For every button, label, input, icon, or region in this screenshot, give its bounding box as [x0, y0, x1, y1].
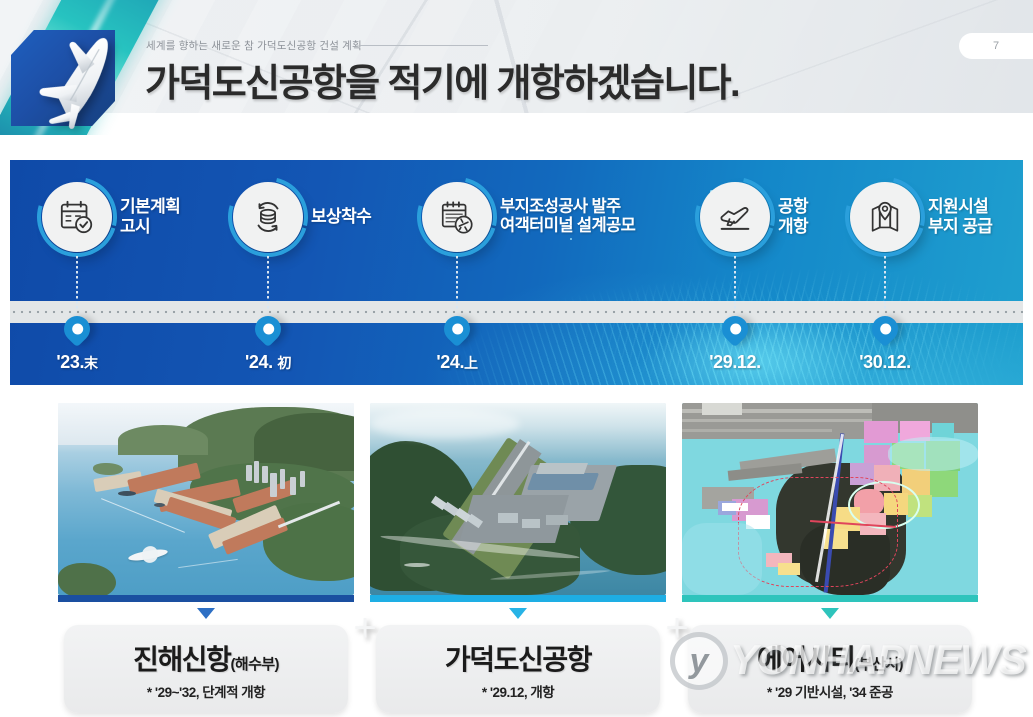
- card-caption: 에어시티(부산시) * '29 기반시설, '34 준공: [688, 625, 972, 713]
- timeline-node-date: '24.上: [414, 352, 500, 373]
- label-line-1: 지원시설: [928, 197, 992, 217]
- card-note: * '29 기반시설, '34 준공: [767, 681, 893, 701]
- timeline-node-label: 부지조성공사 발주 여객터미널 설계공모: [500, 198, 635, 237]
- timeline-node-date: '30.12.: [842, 352, 928, 373]
- timeline-node-4[interactable]: 공항 개항 '29.12.: [700, 182, 770, 252]
- card-caption: 진해신항(해수부) * '29~'32, 단계적 개항: [64, 625, 348, 713]
- date-main: '29.12.: [709, 352, 761, 372]
- card-title: 진해신항(해수부): [133, 638, 279, 678]
- timeline-node-5[interactable]: 지원시설 부지 공급 '30.12.: [850, 182, 920, 252]
- card-accent-bar: [682, 595, 978, 602]
- timeline-node-circle: [42, 182, 112, 252]
- timeline-node-label: 보상착수: [311, 207, 371, 227]
- timeline-node-label: 공항 개항: [778, 197, 808, 237]
- timeline-node-label: 지원시설 부지 공급: [928, 197, 992, 237]
- card-title-sub: (해수부): [231, 656, 279, 673]
- timeline-axis-dots: [10, 310, 1023, 314]
- card-title-sub: (부산시): [855, 656, 903, 673]
- timeline-node-circle: [233, 182, 303, 252]
- air-city-zoning-map: [682, 403, 978, 595]
- card-caption: 가덕도신공항 * '29.12, 개항: [376, 625, 660, 713]
- header-subtitle: 세계를 향하는 새로운 참 가덕도신공항 건설 계획: [146, 38, 362, 53]
- label-line-1: 공항: [778, 197, 808, 217]
- timeline-stem: [884, 256, 886, 310]
- timeline-node-circle: [700, 182, 770, 252]
- timeline-node-circle: [422, 182, 492, 252]
- card-accent-bar: [370, 595, 666, 602]
- date-suffix: 上: [464, 355, 478, 371]
- slide-root: 세계를 향하는 새로운 참 가덕도신공항 건설 계획 가덕도신공항을 적기에 개…: [0, 0, 1033, 717]
- timeline-panel: 기본계획 고시 '23.末: [10, 160, 1023, 385]
- label-line-1: 보상착수: [311, 207, 371, 227]
- timeline-node-2[interactable]: 보상착수 '24. 初: [233, 182, 303, 252]
- caption-arrow-icon: [509, 608, 527, 619]
- timeline-stem: [76, 256, 78, 310]
- timeline-node-circle: [850, 182, 920, 252]
- timeline-node-date: '29.12.: [692, 352, 778, 373]
- card-title: 에어시티(부산시): [757, 638, 903, 678]
- timeline-node-label: 기본계획 고시: [120, 197, 180, 237]
- timeline-stem: [267, 256, 269, 310]
- card-note: * '29.12, 개항: [482, 681, 554, 701]
- page-number-badge: 7: [959, 33, 1033, 59]
- jinhae-new-port-aerial-render: [58, 403, 354, 595]
- project-card-jinhae-new-port[interactable]: 진해신항(해수부) * '29~'32, 단계적 개항: [58, 403, 354, 602]
- date-main: '30.12.: [859, 352, 911, 372]
- caption-arrow-icon: [821, 608, 839, 619]
- subtitle-rule: [360, 45, 488, 46]
- label-line-2: 개항: [778, 217, 808, 237]
- card-title: 가덕도신공항: [445, 638, 591, 678]
- project-card-gadeokdo-airport[interactable]: 가덕도신공항 * '29.12, 개항: [370, 403, 666, 602]
- card-title-main: 진해신항: [133, 644, 230, 675]
- timeline-stem: [734, 256, 736, 310]
- card-accent-bar: [58, 595, 354, 602]
- card-note: * '29~'32, 단계적 개항: [147, 681, 265, 701]
- label-line-1: 부지조성공사 발주: [500, 198, 635, 217]
- timeline-node-date: '24. 初: [225, 352, 311, 373]
- date-main: '24.: [245, 352, 273, 372]
- slide-header: 세계를 향하는 새로운 참 가덕도신공항 건설 계획 가덕도신공항을 적기에 개…: [0, 0, 1033, 135]
- label-line-2: 고시: [120, 217, 180, 237]
- timeline-node-date: '23.末: [34, 352, 120, 373]
- timeline-node-1[interactable]: 기본계획 고시 '23.末: [42, 182, 112, 252]
- date-suffix: 末: [84, 355, 98, 371]
- gadeokdo-new-airport-render: [370, 403, 666, 595]
- project-cards: 진해신항(해수부) * '29~'32, 단계적 개항 +: [0, 403, 1033, 717]
- timeline-node-3[interactable]: 부지조성공사 발주 여객터미널 설계공모 '24.上: [422, 182, 492, 252]
- project-card-air-city[interactable]: 에어시티(부산시) * '29 기반시설, '34 준공: [682, 403, 978, 602]
- header-white-base: [0, 113, 1033, 135]
- card-title-main: 가덕도신공항: [445, 644, 591, 675]
- label-line-2: 여객터미널 설계공모: [500, 217, 635, 236]
- date-suffix: 初: [277, 355, 291, 371]
- timeline-stem: [456, 256, 458, 310]
- page-number: 7: [993, 40, 999, 52]
- date-main: '24.: [436, 352, 464, 372]
- date-main: '23.: [56, 352, 84, 372]
- label-line-2: 부지 공급: [928, 217, 992, 237]
- caption-arrow-icon: [197, 608, 215, 619]
- page-title: 가덕도신공항을 적기에 개항하겠습니다.: [145, 52, 739, 107]
- label-line-1: 기본계획: [120, 197, 180, 217]
- speck: [570, 238, 572, 240]
- card-title-main: 에어시티: [757, 644, 854, 675]
